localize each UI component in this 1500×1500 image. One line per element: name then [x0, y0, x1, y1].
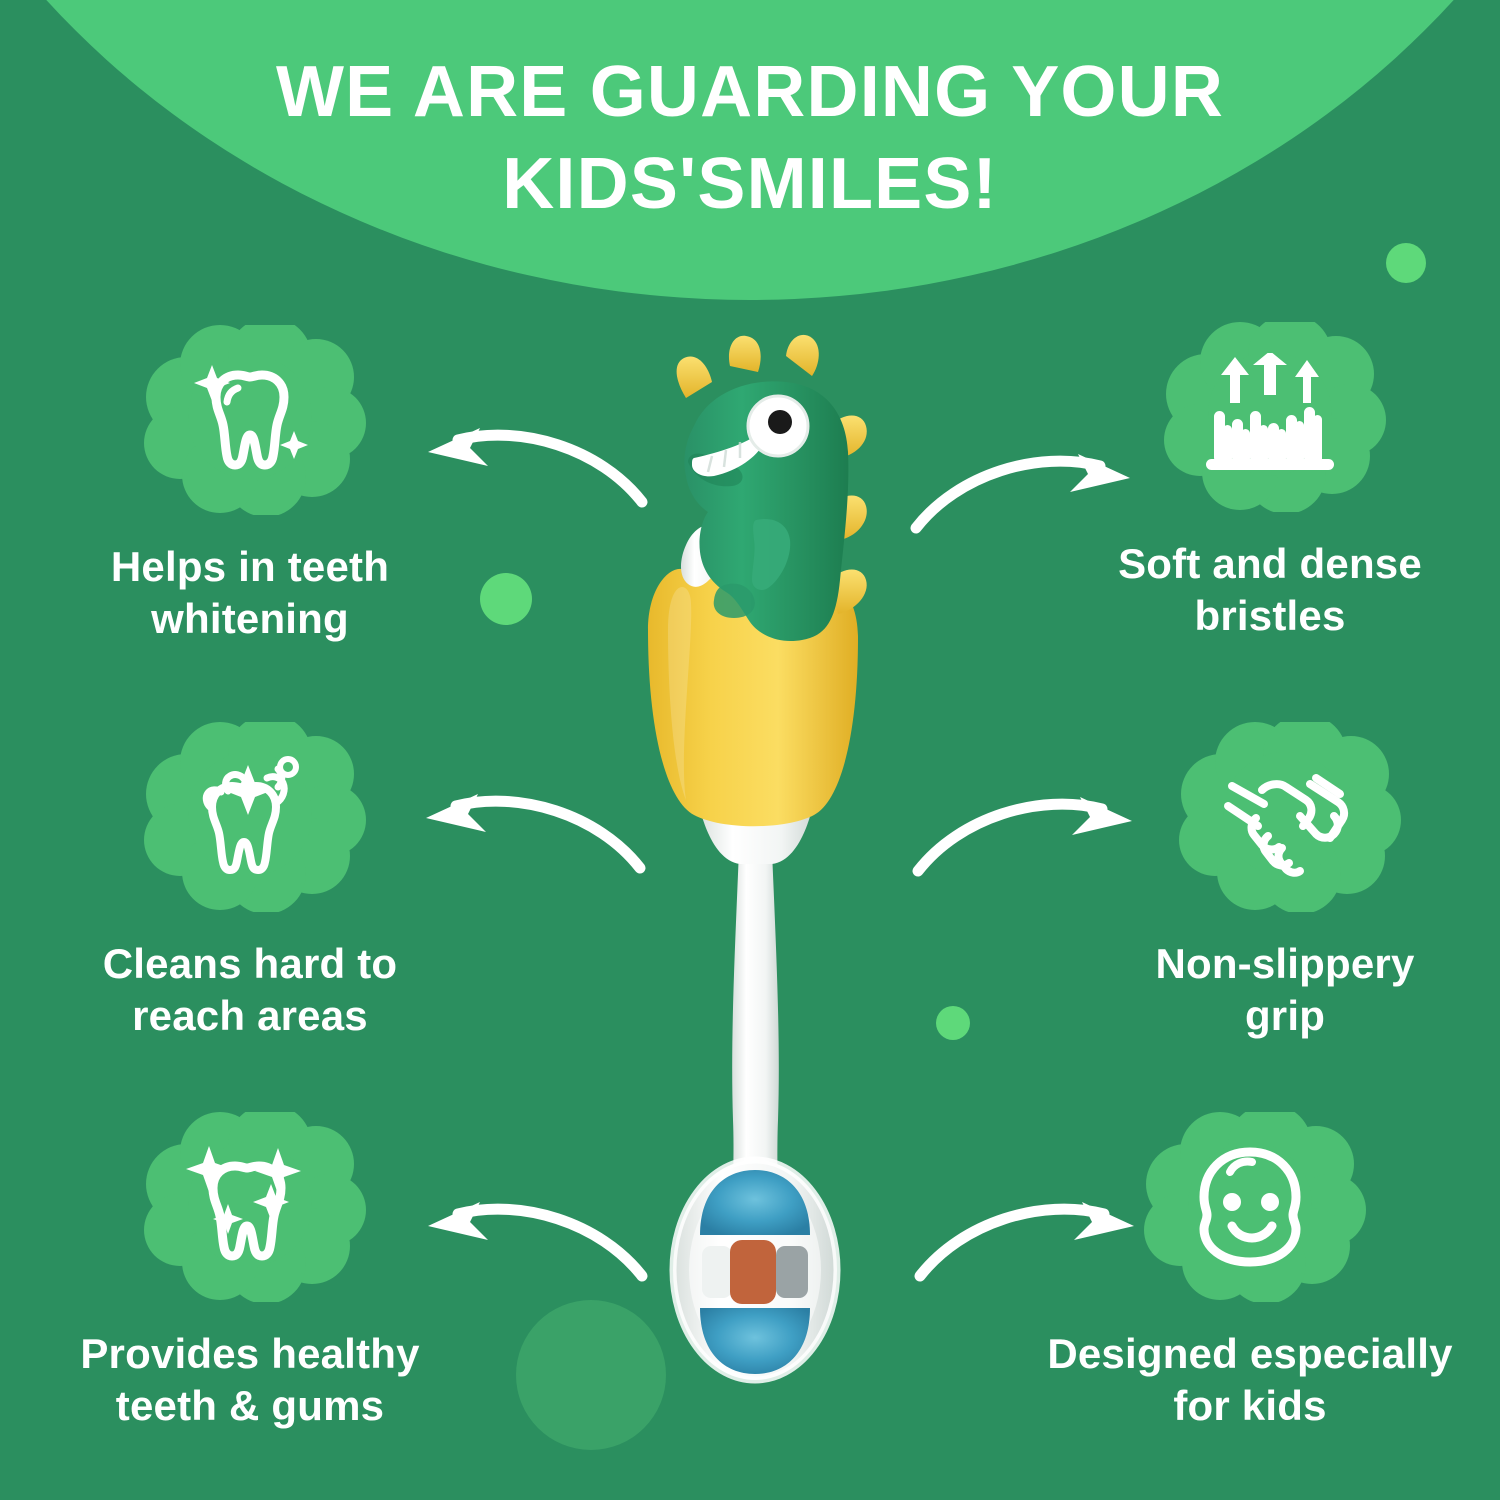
feature-label: Helps in teethwhitening — [40, 541, 460, 645]
dinosaur-pupil — [768, 410, 792, 434]
arrow-to-non-slip-grip — [910, 775, 1150, 885]
feature-label: Cleans hard toreach areas — [40, 938, 460, 1042]
feature-label: Provides healthyteeth & gums — [30, 1328, 470, 1432]
page-title: WE ARE GUARDING YOUR KIDS'SMILES! — [0, 46, 1500, 230]
icon-blob-wrap — [134, 722, 366, 912]
bristle-tuft-gray — [776, 1246, 808, 1298]
icon-blob-wrap — [134, 325, 366, 515]
arrow-to-for-kids — [912, 1180, 1152, 1290]
bristles-arrows-icon — [1200, 353, 1340, 481]
feature-hard-to-reach: Cleans hard toreach areas — [40, 722, 460, 1042]
bristle-tuft-orange — [730, 1240, 776, 1304]
icon-blob-wrap — [1169, 722, 1401, 912]
bristle-tuft-white — [702, 1246, 732, 1298]
title-line-2: KIDS'SMILES! — [0, 138, 1500, 230]
brush-head — [673, 1160, 837, 1380]
shiny-tooth-icon — [179, 1140, 321, 1274]
baby-face-icon — [1186, 1144, 1314, 1270]
dinosaur-kids-toothbrush — [590, 330, 920, 1390]
feature-teeth-whitening: Helps in teethwhitening — [40, 325, 460, 645]
feature-label: Designed especiallyfor kids — [1015, 1328, 1485, 1432]
feature-healthy-gums: Provides healthyteeth & gums — [30, 1112, 470, 1432]
decor-dot-mid-left — [480, 573, 532, 625]
icon-blob-wrap — [134, 1112, 366, 1302]
infographic-canvas: WE ARE GUARDING YOUR KIDS'SMILES! — [0, 0, 1500, 1500]
icon-blob-wrap — [1154, 322, 1386, 512]
feature-label: Non-slipperygrip — [1075, 938, 1495, 1042]
icon-blob-wrap — [1134, 1112, 1366, 1302]
handshake-icon — [1210, 756, 1360, 878]
feature-label: Soft and densebristles — [1055, 538, 1485, 642]
arrow-to-soft-bristles — [908, 430, 1148, 540]
cleaning-tooth-icon — [182, 751, 318, 883]
decor-dot-mid-right — [936, 1006, 970, 1040]
title-line-1: WE ARE GUARDING YOUR — [0, 46, 1500, 138]
decor-dot-top-right — [1386, 243, 1426, 283]
sparkle-tooth-icon — [182, 355, 318, 485]
